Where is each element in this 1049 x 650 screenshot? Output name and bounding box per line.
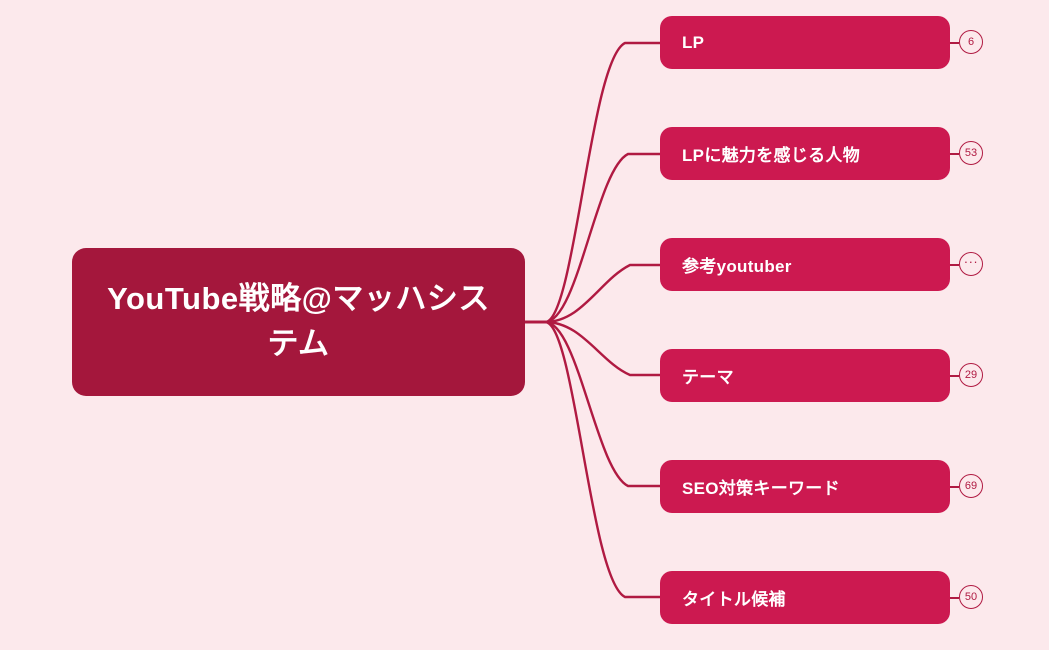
child-node-label: タイトル候補 <box>682 585 786 610</box>
child-node-reference-youtuber[interactable]: 参考youtuber <box>660 238 950 291</box>
badge-stub-5 <box>950 486 959 488</box>
child-node-title-candidates[interactable]: タイトル候補 <box>660 571 950 624</box>
root-node-label: YouTube戦略@マッハシステム <box>98 277 499 367</box>
root-node[interactable]: YouTube戦略@マッハシステム <box>72 248 525 396</box>
child-badge-count-2[interactable]: 53 <box>959 141 983 165</box>
child-badge-count-6[interactable]: 50 <box>959 585 983 609</box>
badge-stub-4 <box>950 375 959 377</box>
child-node-lp[interactable]: LP <box>660 16 950 69</box>
child-node-seo-keywords[interactable]: SEO対策キーワード <box>660 460 950 513</box>
child-badge-count-1[interactable]: 6 <box>959 30 983 54</box>
child-badge-count-5[interactable]: 69 <box>959 474 983 498</box>
child-badge-count-4[interactable]: 29 <box>959 363 983 387</box>
badge-stub-2 <box>950 153 959 155</box>
connector-root-to-child-2 <box>525 154 660 322</box>
child-node-label: SEO対策キーワード <box>682 474 840 499</box>
badge-stub-3 <box>950 264 959 266</box>
child-node-lp-appeal-persona[interactable]: LPに魅力を感じる人物 <box>660 127 950 180</box>
child-node-label: テーマ <box>682 363 734 388</box>
child-node-label: 参考youtuber <box>682 252 792 277</box>
connector-root-to-child-5 <box>525 322 660 486</box>
mindmap-canvas: YouTube戦略@マッハシステム LP 6 LPに魅力を感じる人物 53 参考… <box>0 0 1049 650</box>
child-node-label: LP <box>682 33 704 53</box>
child-node-label: LPに魅力を感じる人物 <box>682 141 860 166</box>
child-badge-ellipsis-3[interactable]: ··· <box>959 252 983 276</box>
connector-root-to-child-4 <box>525 322 660 375</box>
badge-stub-6 <box>950 597 959 599</box>
connector-root-to-child-6 <box>525 322 660 597</box>
badge-stub-1 <box>950 42 959 44</box>
child-node-theme[interactable]: テーマ <box>660 349 950 402</box>
connector-root-to-child-1 <box>525 43 660 322</box>
connector-root-to-child-3 <box>525 265 660 322</box>
